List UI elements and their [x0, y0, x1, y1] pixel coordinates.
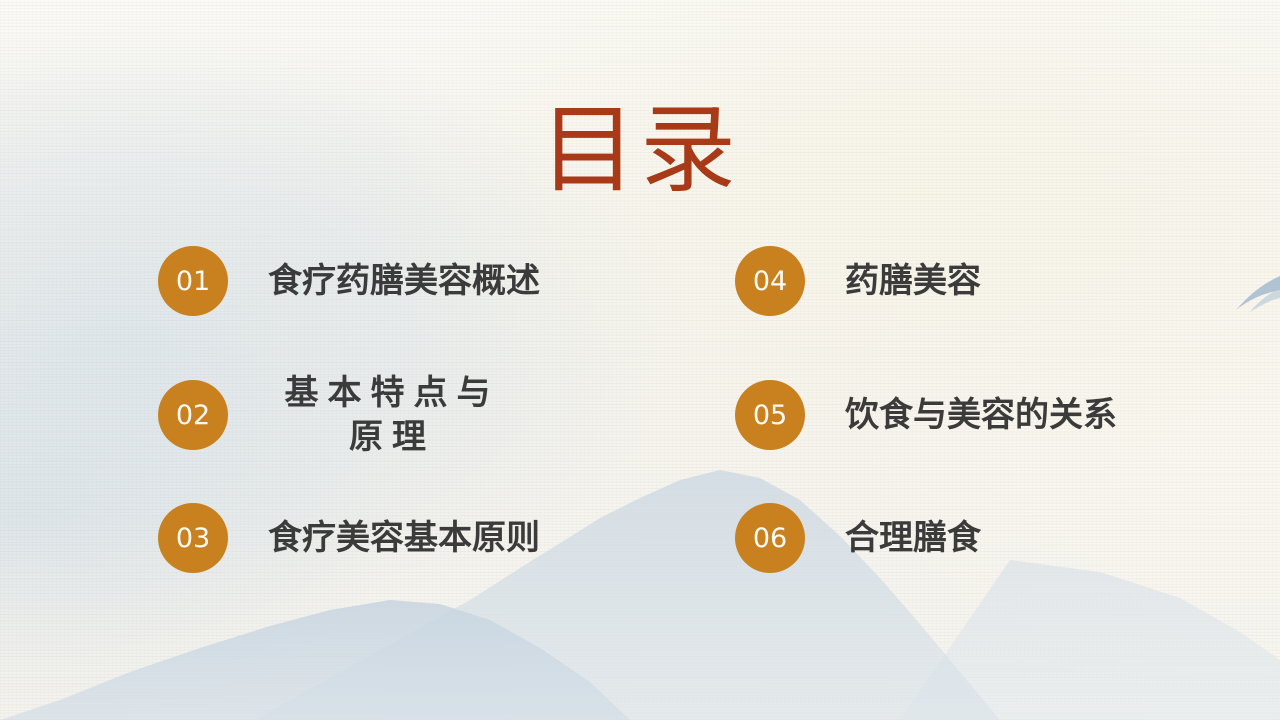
- toc-number-badge-01: 01: [158, 246, 228, 316]
- toc-number-badge-04: 04: [735, 246, 805, 316]
- toc-item-02[interactable]: 02 基本特点与原理: [0, 348, 640, 482]
- toc-item-05[interactable]: 05 饮食与美容的关系: [640, 348, 1280, 482]
- presentation-slide: 目录 01 食疗药膳美容概述 02 基本特点与原理 03 食疗美容基本原则 04…: [0, 0, 1280, 720]
- toc-item-01[interactable]: 01 食疗药膳美容概述: [0, 214, 640, 348]
- toc-label-01: 食疗药膳美容概述: [268, 259, 540, 303]
- toc-label-04: 药膳美容: [845, 259, 981, 303]
- toc-item-04[interactable]: 04 药膳美容: [640, 214, 1280, 348]
- toc-label-03: 食疗美容基本原则: [268, 516, 540, 560]
- toc-number-badge-02: 02: [158, 380, 228, 450]
- toc-label-06: 合理膳食: [845, 516, 981, 560]
- toc-item-06[interactable]: 06 合理膳食: [640, 482, 1280, 594]
- toc-number-badge-06: 06: [735, 503, 805, 573]
- toc-item-03[interactable]: 03 食疗美容基本原则: [0, 482, 640, 594]
- page-title: 目录: [0, 100, 1280, 201]
- table-of-contents: 01 食疗药膳美容概述 02 基本特点与原理 03 食疗美容基本原则 04 药膳…: [0, 214, 1280, 594]
- toc-label-05: 饮食与美容的关系: [845, 393, 1117, 437]
- toc-number-badge-05: 05: [735, 380, 805, 450]
- toc-label-02: 基本特点与原理: [268, 371, 516, 459]
- toc-number-badge-03: 03: [158, 503, 228, 573]
